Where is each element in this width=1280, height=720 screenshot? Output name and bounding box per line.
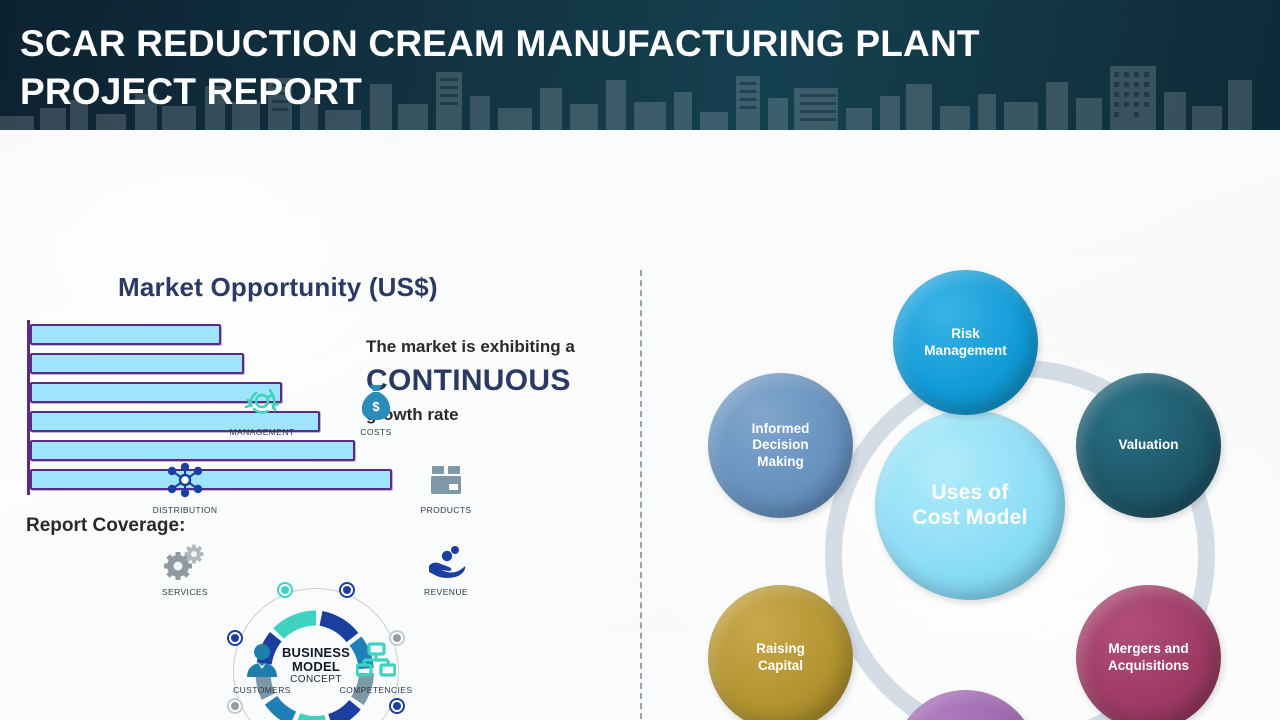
coverage-label-revenue: REVENUE	[400, 587, 492, 597]
coverage-label-services: SERVICES	[139, 587, 231, 597]
bubble-mergers-acquisitions: Mergers and Acquisitions	[1076, 585, 1221, 720]
coverage-item-costs: $ COSTS	[330, 380, 422, 437]
report-coverage-label: Report Coverage:	[26, 515, 185, 537]
recycle-bulb-icon	[216, 380, 308, 424]
bm-node-right-lower	[389, 698, 405, 714]
money-bag-icon: $	[330, 380, 422, 424]
market-opportunity-heading: Market Opportunity (US$)	[118, 272, 438, 303]
center-bubble-uses-of-cost-model: Uses of Cost Model	[875, 410, 1065, 600]
valuation-line-1: Valuation	[1112, 437, 1184, 453]
bubble-informed-decision-making: Informed Decision Making	[708, 373, 853, 518]
coverage-item-products: PRODUCTS	[400, 458, 492, 515]
bubble-risk-management: Risk Management	[893, 270, 1038, 415]
bm-node-top-right	[339, 582, 355, 598]
gears-icon	[139, 540, 231, 584]
coverage-label-competencies: COMPETENCIES	[330, 685, 422, 695]
bubble-raising-capital: Raising Capital	[708, 585, 853, 720]
statement-line-1: The market is exhibiting a	[366, 335, 636, 359]
mergers-line-2: Acquisitions	[1102, 658, 1195, 674]
content-stage: Market Opportunity (US$) The market is e…	[0, 130, 1280, 720]
org-chart-icon	[330, 638, 422, 682]
raising-capital-line-2: Capital	[750, 658, 811, 674]
bm-node-left-lower	[227, 698, 243, 714]
hand-coins-icon	[400, 540, 492, 584]
svg-text:$: $	[372, 399, 380, 414]
coverage-item-customers: CUSTOMERS	[216, 638, 308, 695]
bm-node-top-left	[277, 582, 293, 598]
table-row	[30, 324, 221, 345]
person-icon	[216, 638, 308, 682]
vertical-dashed-divider	[640, 270, 642, 720]
uses-of-cost-model-diagram: Uses of Cost Model Risk Management Valua…	[690, 265, 1250, 720]
page-header: SCAR REDUCTION CREAM MANUFACTURING PLANT…	[0, 0, 1280, 130]
coverage-label-costs: COSTS	[330, 427, 422, 437]
center-line-2: Cost Model	[906, 505, 1033, 530]
mergers-line-1: Mergers and	[1102, 641, 1195, 657]
coverage-item-revenue: REVENUE	[400, 540, 492, 597]
coverage-item-management: MANAGEMENT	[216, 380, 308, 437]
raising-capital-line-1: Raising	[750, 641, 811, 657]
coverage-item-distribution: DISTRIBUTION	[139, 458, 231, 515]
center-line-1: Uses of	[906, 480, 1033, 505]
coverage-label-management: MANAGEMENT	[216, 427, 308, 437]
bubble-valuation: Valuation	[1076, 373, 1221, 518]
risk-management-line-2: Management	[918, 343, 1013, 359]
network-nodes-icon	[139, 458, 231, 502]
coverage-label-customers: CUSTOMERS	[216, 685, 308, 695]
informed-line-3: Making	[746, 454, 816, 470]
informed-line-2: Decision	[746, 437, 816, 453]
coverage-item-services: SERVICES	[139, 540, 231, 597]
coverage-label-products: PRODUCTS	[400, 505, 492, 515]
coverage-item-competencies: COMPETENCIES	[330, 638, 422, 695]
informed-line-1: Informed	[746, 421, 816, 437]
table-row	[30, 353, 244, 374]
risk-management-line-1: Risk	[918, 326, 1013, 342]
package-box-icon	[400, 458, 492, 502]
coverage-label-distribution: DISTRIBUTION	[139, 505, 231, 515]
page-title: SCAR REDUCTION CREAM MANUFACTURING PLANT…	[20, 20, 1080, 116]
